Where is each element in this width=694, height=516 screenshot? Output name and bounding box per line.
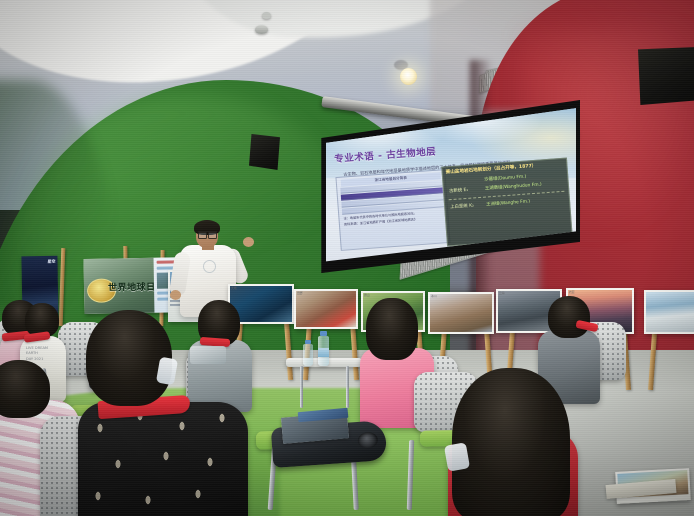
slide-strat-unit — [448, 180, 480, 182]
water-bottle — [303, 344, 313, 366]
photo-image — [430, 294, 492, 332]
eyeglasses-icon — [198, 231, 217, 237]
bottle-label — [318, 348, 329, 357]
spotlight-icon — [400, 68, 417, 85]
face-mask-icon — [444, 442, 470, 471]
slide-strat-unit: 上白垩统 K₂ — [450, 202, 482, 210]
audience-member-hair — [0, 360, 50, 418]
slide-strat-unit: 古新统 E₁ — [449, 186, 481, 194]
photo-title: 大地 — [231, 286, 237, 290]
wall-speaker-right — [638, 47, 694, 105]
presenter-left-hand — [170, 290, 181, 300]
tshirt-logo-icon — [203, 260, 216, 273]
slide-left-table: 浙江省地层划分简表 注：地层年代表中的各时代单位与国际地层表对应。 资料来源：浙… — [335, 169, 450, 251]
audience-member-hair — [366, 298, 418, 360]
exhibit-photo: 田野 — [294, 289, 358, 329]
table-leg — [346, 366, 349, 408]
slide-strat-formation: 王洲组(Wanghe Fm.) — [486, 198, 530, 207]
audience-member-hair — [86, 310, 172, 406]
photo-title: 岩层 — [569, 290, 575, 294]
banner-title: 世界地球日 — [108, 280, 156, 294]
cup-holder — [357, 432, 378, 449]
presenter-right-hand — [243, 237, 254, 247]
sweater-leaf-pattern — [78, 402, 248, 516]
wall-speaker-left — [249, 134, 280, 170]
hoodie-pattern — [190, 346, 226, 364]
photo-title: 群山 — [364, 293, 370, 297]
slide-right-stratigraphy-table: 萧山盆地岩石地层划分（吕占开等，1877） 沙墓组(Doumu Fm.) 古新统… — [441, 157, 573, 246]
poster-label: 星空 — [47, 259, 55, 265]
photo-title: 田野 — [297, 291, 303, 295]
audience-member-hair — [548, 296, 590, 338]
photo-image — [296, 291, 356, 327]
exhibit-photo — [644, 290, 694, 334]
bottle-cap — [305, 340, 311, 344]
classroom-photo-scene: 专业术语 - 古生物地层 古生物、岩石地层和年代地层是地质学中描述地层的三大体系… — [0, 0, 694, 516]
table-leg — [300, 366, 303, 408]
audience-member-hair — [452, 368, 570, 516]
exhibit-photo: 冰川 — [428, 292, 494, 334]
photo-image — [646, 292, 694, 332]
photo-title: 云海 — [499, 291, 505, 295]
slide-strat-formation: 王湖墩组(Wanghudun Fm.) — [485, 181, 542, 191]
smoke-detector-icon — [262, 12, 271, 19]
shirt-print: LIVE DREAMEARTHDAY 2021 — [26, 346, 60, 362]
slide-strat-formation: 沙墓组(Doumu Fm.) — [484, 174, 526, 183]
bottle-cap — [320, 331, 327, 336]
smoke-detector-icon — [255, 25, 268, 34]
photo-title: 冰川 — [431, 294, 437, 298]
